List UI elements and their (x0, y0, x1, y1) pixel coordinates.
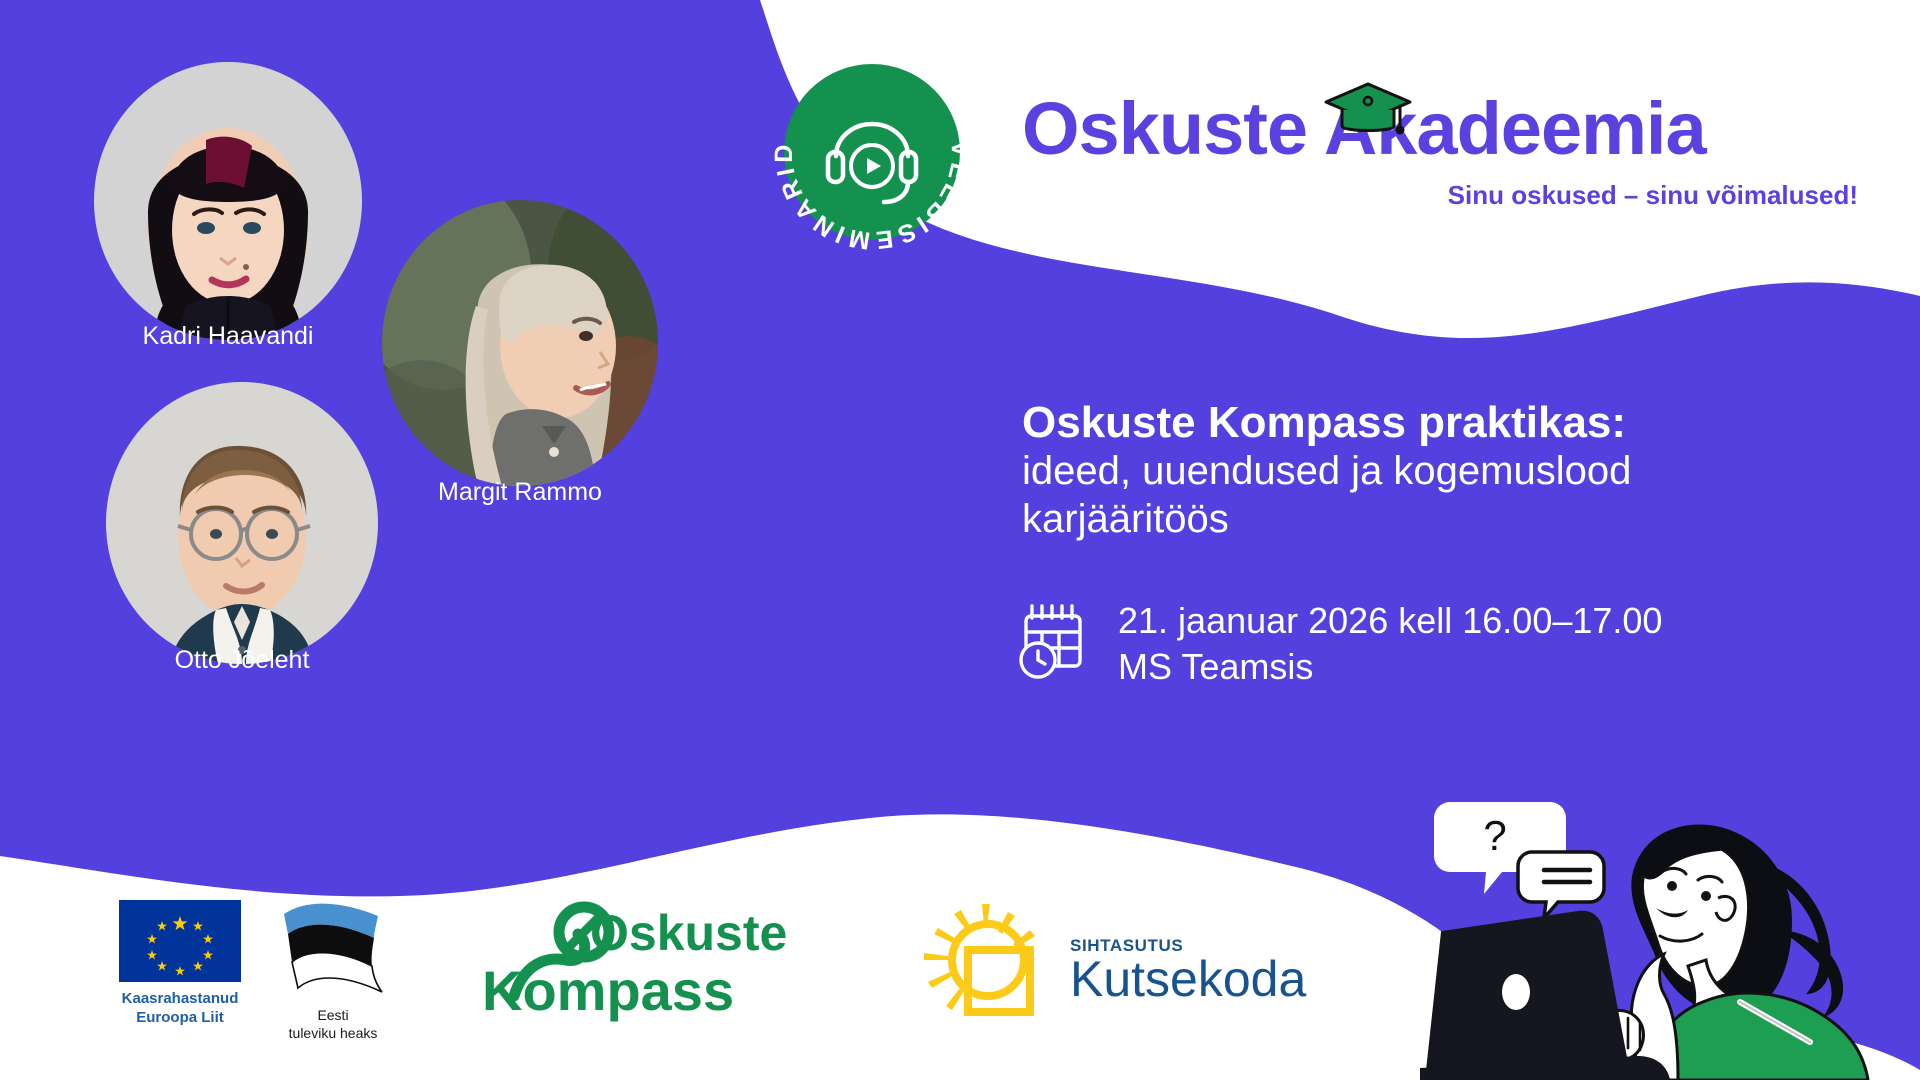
estonia-future-logo: Eesti tuleviku heaks (268, 900, 398, 1042)
schedule-date: 21. jaanuar 2026 kell 16.00–17.00 (1118, 598, 1662, 644)
estonia-flag-wave-icon (278, 900, 388, 1000)
page-title: Oskuste Akadeemia (1022, 92, 1862, 166)
chat-lines-icon (1518, 852, 1604, 918)
avatar-otto-joeleht (106, 382, 378, 664)
eu-flag-icon (119, 900, 241, 982)
brand-tagline: Sinu oskused – sinu võimalused! (1022, 180, 1862, 211)
brand-header: Oskuste Akadeemia Sinu oskused – sinu võ… (1022, 92, 1862, 211)
graduation-cap-icon (1322, 80, 1414, 142)
sun-square-emblem-icon (920, 902, 1060, 1026)
oskuste-kompass-word-2: Kompass (482, 959, 734, 1022)
veebiseminarid-badge: VEEBISEMINARID (768, 48, 976, 256)
kutsekoda-logo: SIHTASUTUS Kutsekoda (920, 900, 1310, 1028)
avatar-margit-rammo (382, 200, 658, 486)
headline-line-3: karjääritöös (1022, 495, 1852, 543)
headline-line-2: ideed, uuendused ja kogemuslood (1022, 447, 1852, 495)
eu-caption-line-2: Euroopa Liit (110, 1009, 250, 1028)
woman-at-laptop-illustration: ? (1420, 780, 1920, 1080)
event-headline: Oskuste Kompass praktikas: ideed, uuendu… (1022, 398, 1852, 543)
headline-line-1: Oskuste Kompass praktikas: (1022, 398, 1852, 447)
estonia-caption-line-1: Eesti (268, 1007, 398, 1025)
kutsekoda-name: Kutsekoda (1070, 954, 1306, 1004)
calendar-clock-icon (1018, 602, 1092, 680)
poster-canvas: VEEBISEMINARID Oskuste Akadeemia (0, 0, 1920, 1080)
bubble-question-mark: ? (1483, 812, 1506, 859)
event-schedule: 21. jaanuar 2026 kell 16.00–17.00 MS Tea… (1018, 598, 1662, 690)
speaker-name-margit: Margit Rammo (380, 478, 660, 507)
speaker-name-kadri: Kadri Haavandi (94, 322, 362, 351)
oskuste-kompass-logo: Oskuste Kompass (462, 898, 792, 1028)
eu-caption-line-1: Kaasrahastanud (110, 990, 250, 1009)
estonia-caption-line-2: tuleviku heaks (268, 1025, 398, 1043)
schedule-platform: MS Teamsis (1118, 644, 1662, 690)
avatar-kadri-haavandi (94, 62, 362, 340)
speaker-name-otto: Otto Jõeleht (106, 646, 378, 675)
oskuste-kompass-word-1: Oskuste (590, 905, 787, 961)
eu-cofunding-logo: Kaasrahastanud Euroopa Liit (110, 900, 250, 1028)
